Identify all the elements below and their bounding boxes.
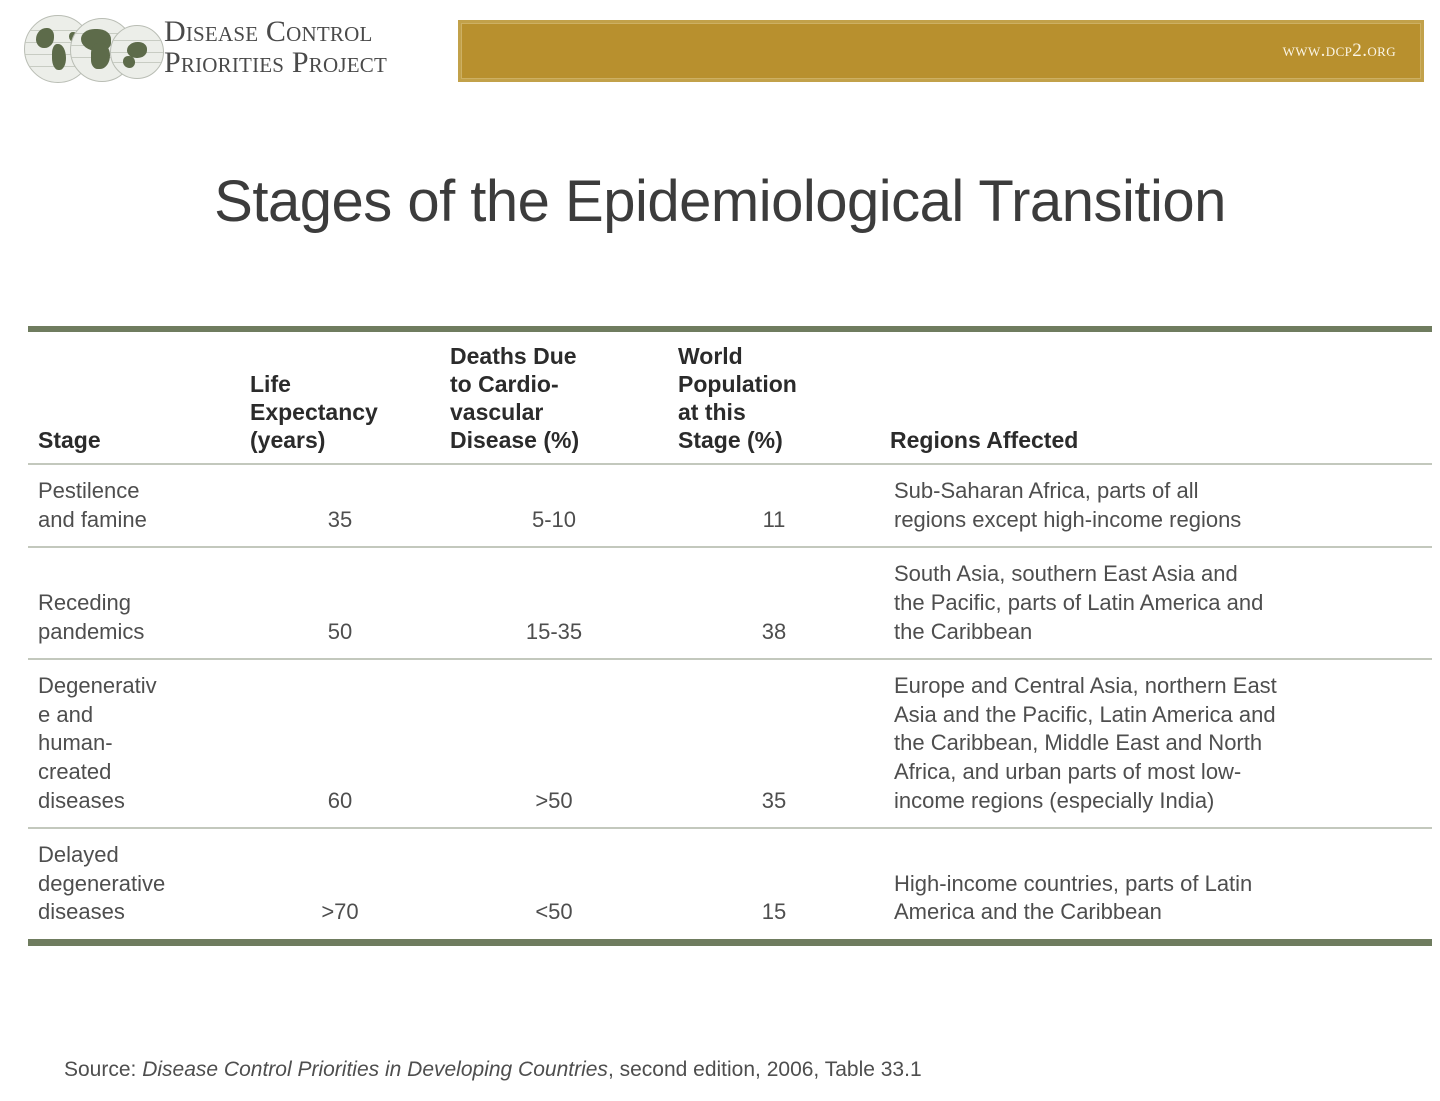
cell-cvd-deaths: <50 (440, 828, 668, 939)
table-row: Receding pandemics 50 15-35 38 South Asi… (28, 547, 1432, 659)
cell-stage: Degenerativ e and human- created disease… (28, 659, 240, 828)
cell-cvd-deaths: >50 (440, 659, 668, 828)
table: Stage Life Expectancy (years) Deaths Due… (28, 332, 1432, 939)
column-header-life-expectancy: Life Expectancy (years) (240, 332, 440, 464)
cell-regions: South Asia, southern East Asia and the P… (880, 547, 1432, 659)
column-header-regions: Regions Affected (880, 332, 1432, 464)
cell-world-population: 38 (668, 547, 880, 659)
logo-line-1: Disease Control (164, 17, 387, 48)
logo-wordmark: Disease Control Priorities Project (164, 17, 387, 78)
table-bottom-rule (28, 939, 1432, 946)
table-header: Stage Life Expectancy (years) Deaths Due… (28, 332, 1432, 464)
globe-icon (22, 12, 154, 84)
cell-stage: Delayed degenerative diseases (28, 828, 240, 939)
cell-life-expectancy: 60 (240, 659, 440, 828)
cell-life-expectancy: >70 (240, 828, 440, 939)
table-row: Delayed degenerative diseases >70 <50 15… (28, 828, 1432, 939)
dcp-logo: Disease Control Priorities Project (22, 12, 387, 84)
epidemiological-transition-table: Stage Life Expectancy (years) Deaths Due… (28, 326, 1432, 946)
page-title: Stages of the Epidemiological Transition (0, 168, 1440, 235)
cell-life-expectancy: 35 (240, 464, 440, 547)
cell-regions: High-income countries, parts of Latin Am… (880, 828, 1432, 939)
slide-header: Disease Control Priorities Project www.d… (0, 0, 1440, 105)
header-regions-lines: Regions Affected (890, 426, 1426, 454)
gold-banner-inner: www.dcp2.org (461, 23, 1421, 79)
header-population-lines: World Population at this Stage (%) (678, 342, 874, 454)
source-book-title: Disease Control Priorities in Developing… (142, 1058, 608, 1081)
cell-world-population: 35 (668, 659, 880, 828)
table-row: Degenerativ e and human- created disease… (28, 659, 1432, 828)
column-header-world-population: World Population at this Stage (%) (668, 332, 880, 464)
source-note: Source: Disease Control Priorities in De… (64, 1058, 922, 1082)
logo-line-2: Priorities Project (164, 48, 387, 79)
globe-icon-right (110, 25, 164, 79)
column-header-cvd-deaths: Deaths Due to Cardio- vascular Disease (… (440, 332, 668, 464)
cell-world-population: 15 (668, 828, 880, 939)
source-suffix: , second edition, 2006, Table 33.1 (608, 1058, 922, 1081)
table-body: Pestilence and famine 35 5-10 11 Sub-Sah… (28, 464, 1432, 939)
website-url[interactable]: www.dcp2.org (1283, 40, 1420, 62)
source-prefix: Source: (64, 1058, 142, 1081)
gold-banner: www.dcp2.org (458, 20, 1424, 82)
cell-regions: Sub-Saharan Africa, parts of all regions… (880, 464, 1432, 547)
cell-world-population: 11 (668, 464, 880, 547)
cell-cvd-deaths: 15-35 (440, 547, 668, 659)
table-header-row: Stage Life Expectancy (years) Deaths Due… (28, 332, 1432, 464)
header-stage-lines: Stage (38, 426, 234, 454)
column-header-stage: Stage (28, 332, 240, 464)
cell-regions: Europe and Central Asia, northern East A… (880, 659, 1432, 828)
header-cvd-lines: Deaths Due to Cardio- vascular Disease (… (450, 342, 662, 454)
header-life-lines: Life Expectancy (years) (250, 370, 434, 454)
cell-life-expectancy: 50 (240, 547, 440, 659)
cell-stage: Pestilence and famine (28, 464, 240, 547)
cell-cvd-deaths: 5-10 (440, 464, 668, 547)
table-row: Pestilence and famine 35 5-10 11 Sub-Sah… (28, 464, 1432, 547)
cell-stage: Receding pandemics (28, 547, 240, 659)
